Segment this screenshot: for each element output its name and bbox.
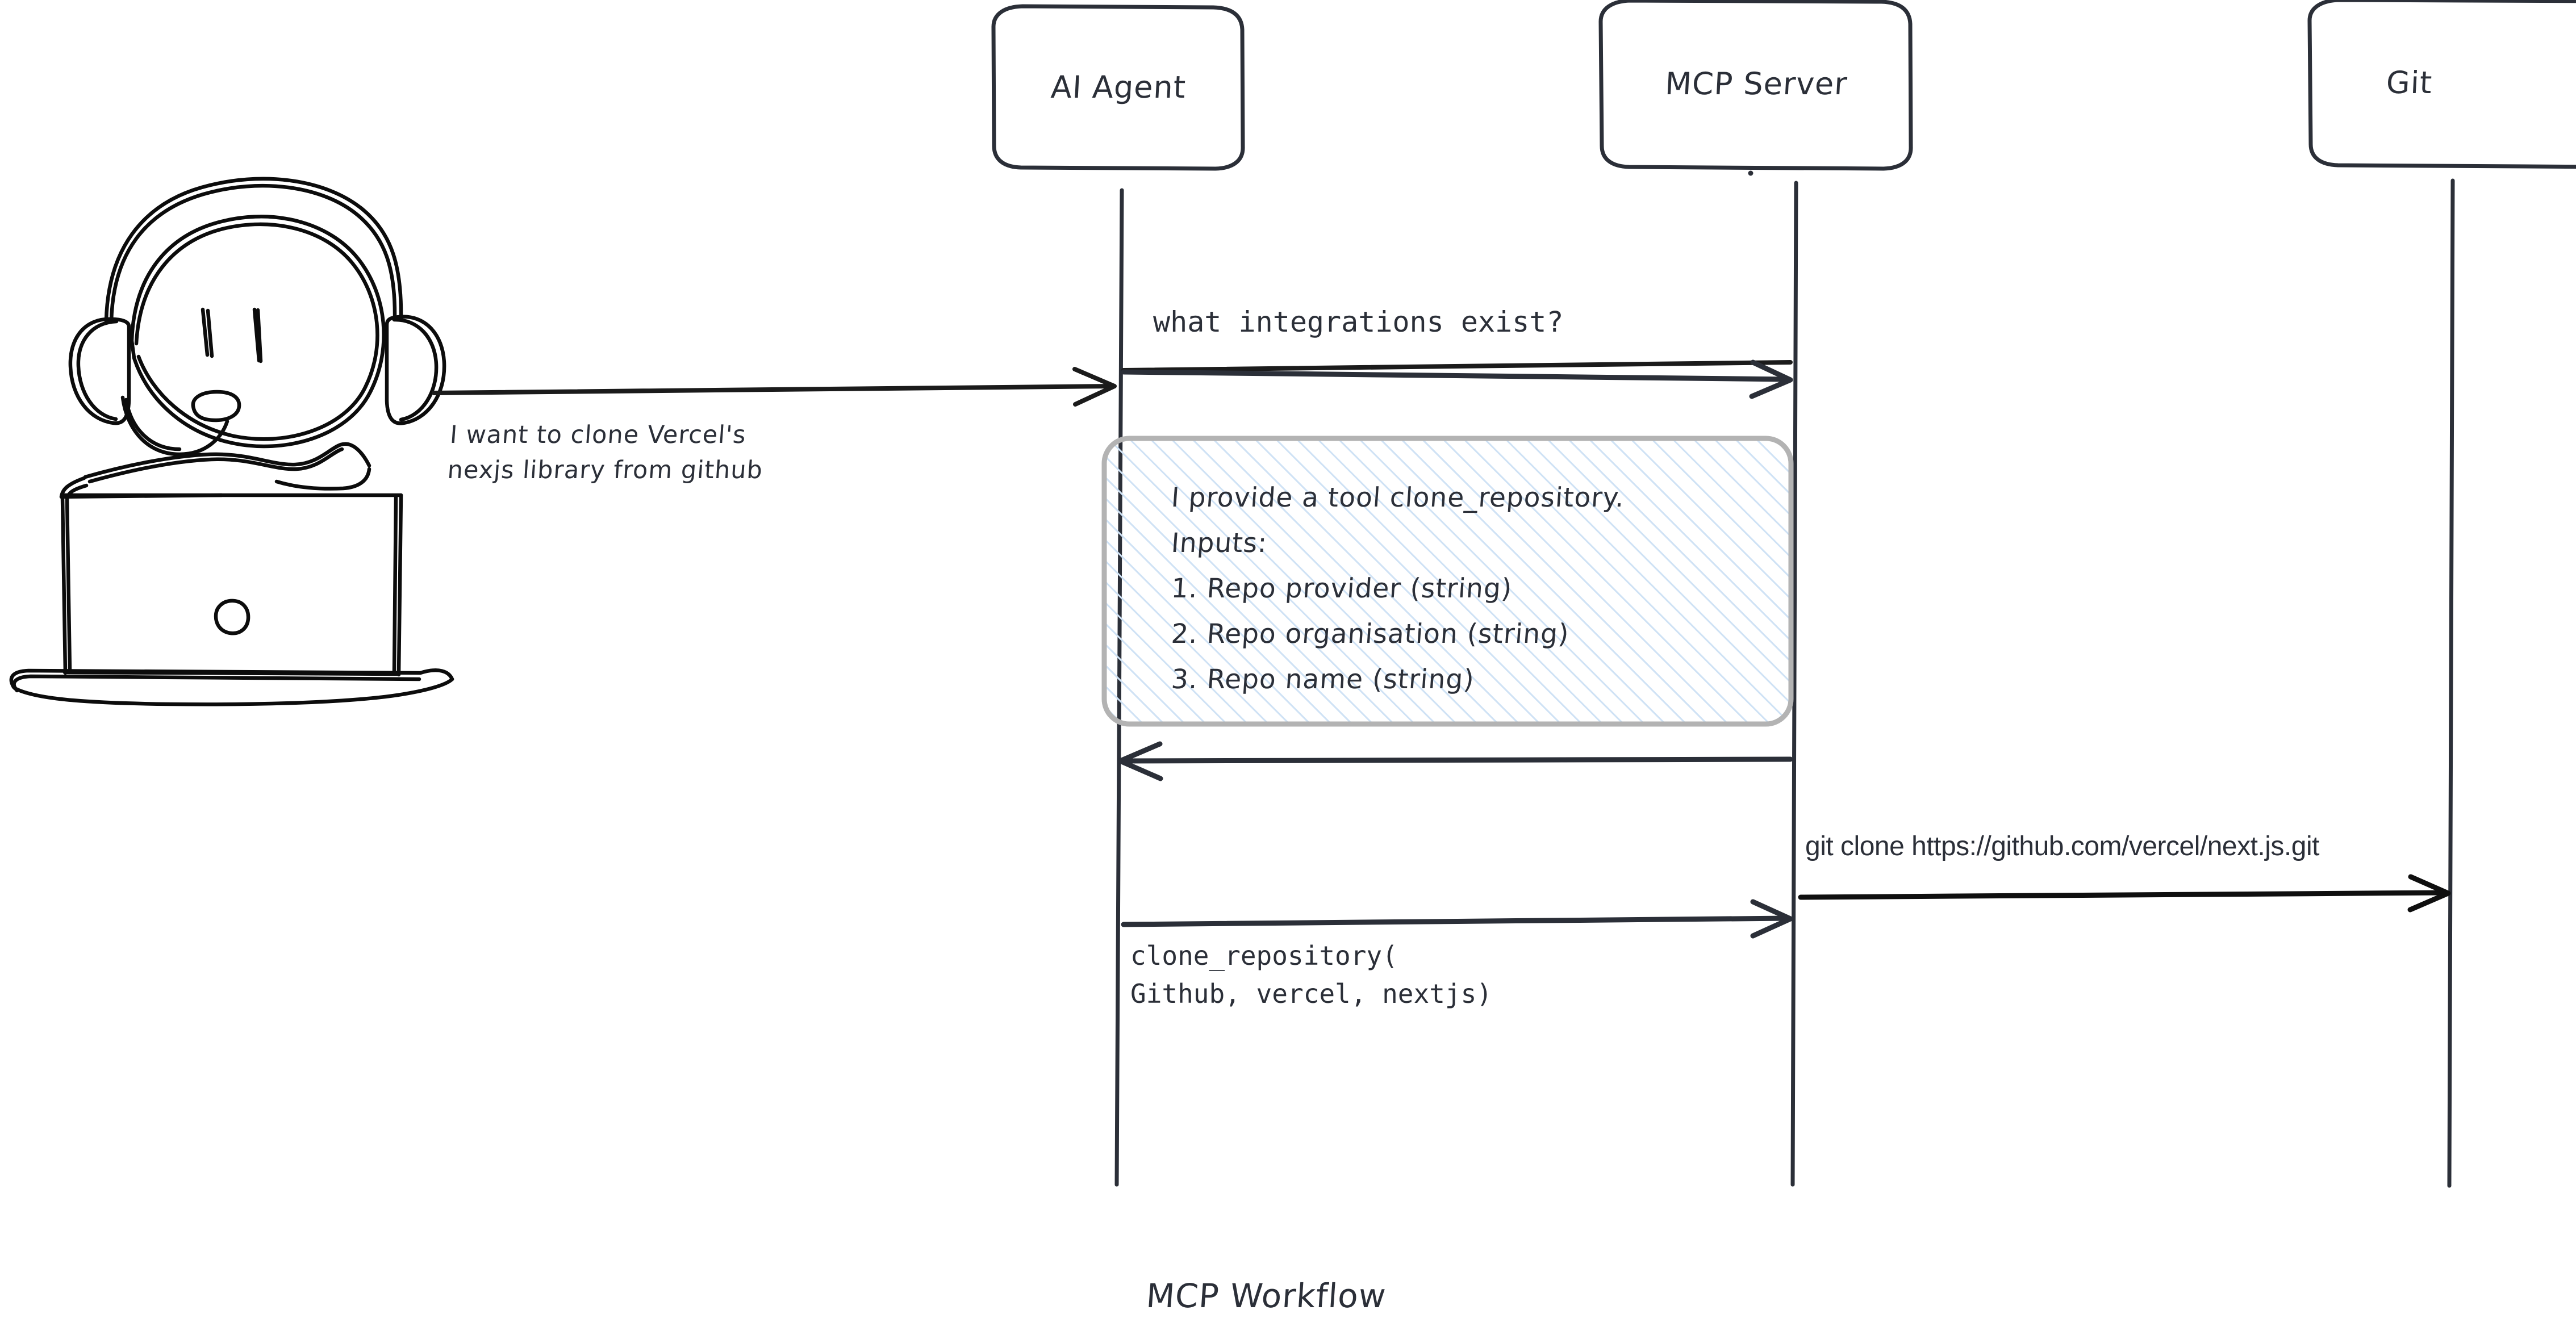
note-line-2: Inputs: (1170, 525, 1775, 562)
participant-label-ai-agent: AI Agent (993, 68, 1244, 107)
sequence-diagram-canvas: AI Agent MCP Server Git I want to clone … (0, 0, 2576, 1343)
note-line-5: 3. Repo name (string) (1170, 662, 1775, 698)
participant-label-git-wrap: Git (2311, 0, 2576, 166)
message-label-git-clone: git clone https://github.com/vercel/next… (1805, 829, 2319, 864)
arrow-tool-list-response (1120, 744, 1790, 779)
message-label-list-integrations: what integrations exist? (1153, 304, 1563, 340)
participant-label-mcp-server-wrap: MCP Server (1602, 1, 1911, 168)
user-avatar-sketch (11, 179, 452, 705)
lifeline-git (2449, 181, 2453, 1186)
message-label-user-request: I want to clone Vercel's nexjs library f… (446, 417, 883, 488)
message-label-call-clone-repository: clone_repository( Github, vercel, nextjs… (1130, 937, 1492, 1013)
diagram-title: MCP Workflow (1145, 1275, 1387, 1317)
participant-label-mcp-server: MCP Server (1601, 64, 1912, 103)
stray-dot (1748, 171, 1753, 176)
note-line-1: I provide a tool clone_repository. (1170, 480, 1775, 517)
arrow-user-request (434, 369, 1114, 404)
arrow-git-clone (1801, 877, 2448, 910)
message-arrows-3 (1801, 877, 2448, 910)
participant-label-git: Git (2310, 63, 2576, 102)
note-line-3: 1. Repo provider (string) (1170, 571, 1775, 608)
note-line-4: 2. Repo organisation (string) (1170, 616, 1775, 653)
arrow-call-clone-repository (1124, 902, 1790, 936)
message-arrows (434, 362, 1790, 404)
arrow-list-integrations (1124, 362, 1790, 370)
participant-label-ai-agent-wrap: AI Agent (994, 6, 1243, 169)
